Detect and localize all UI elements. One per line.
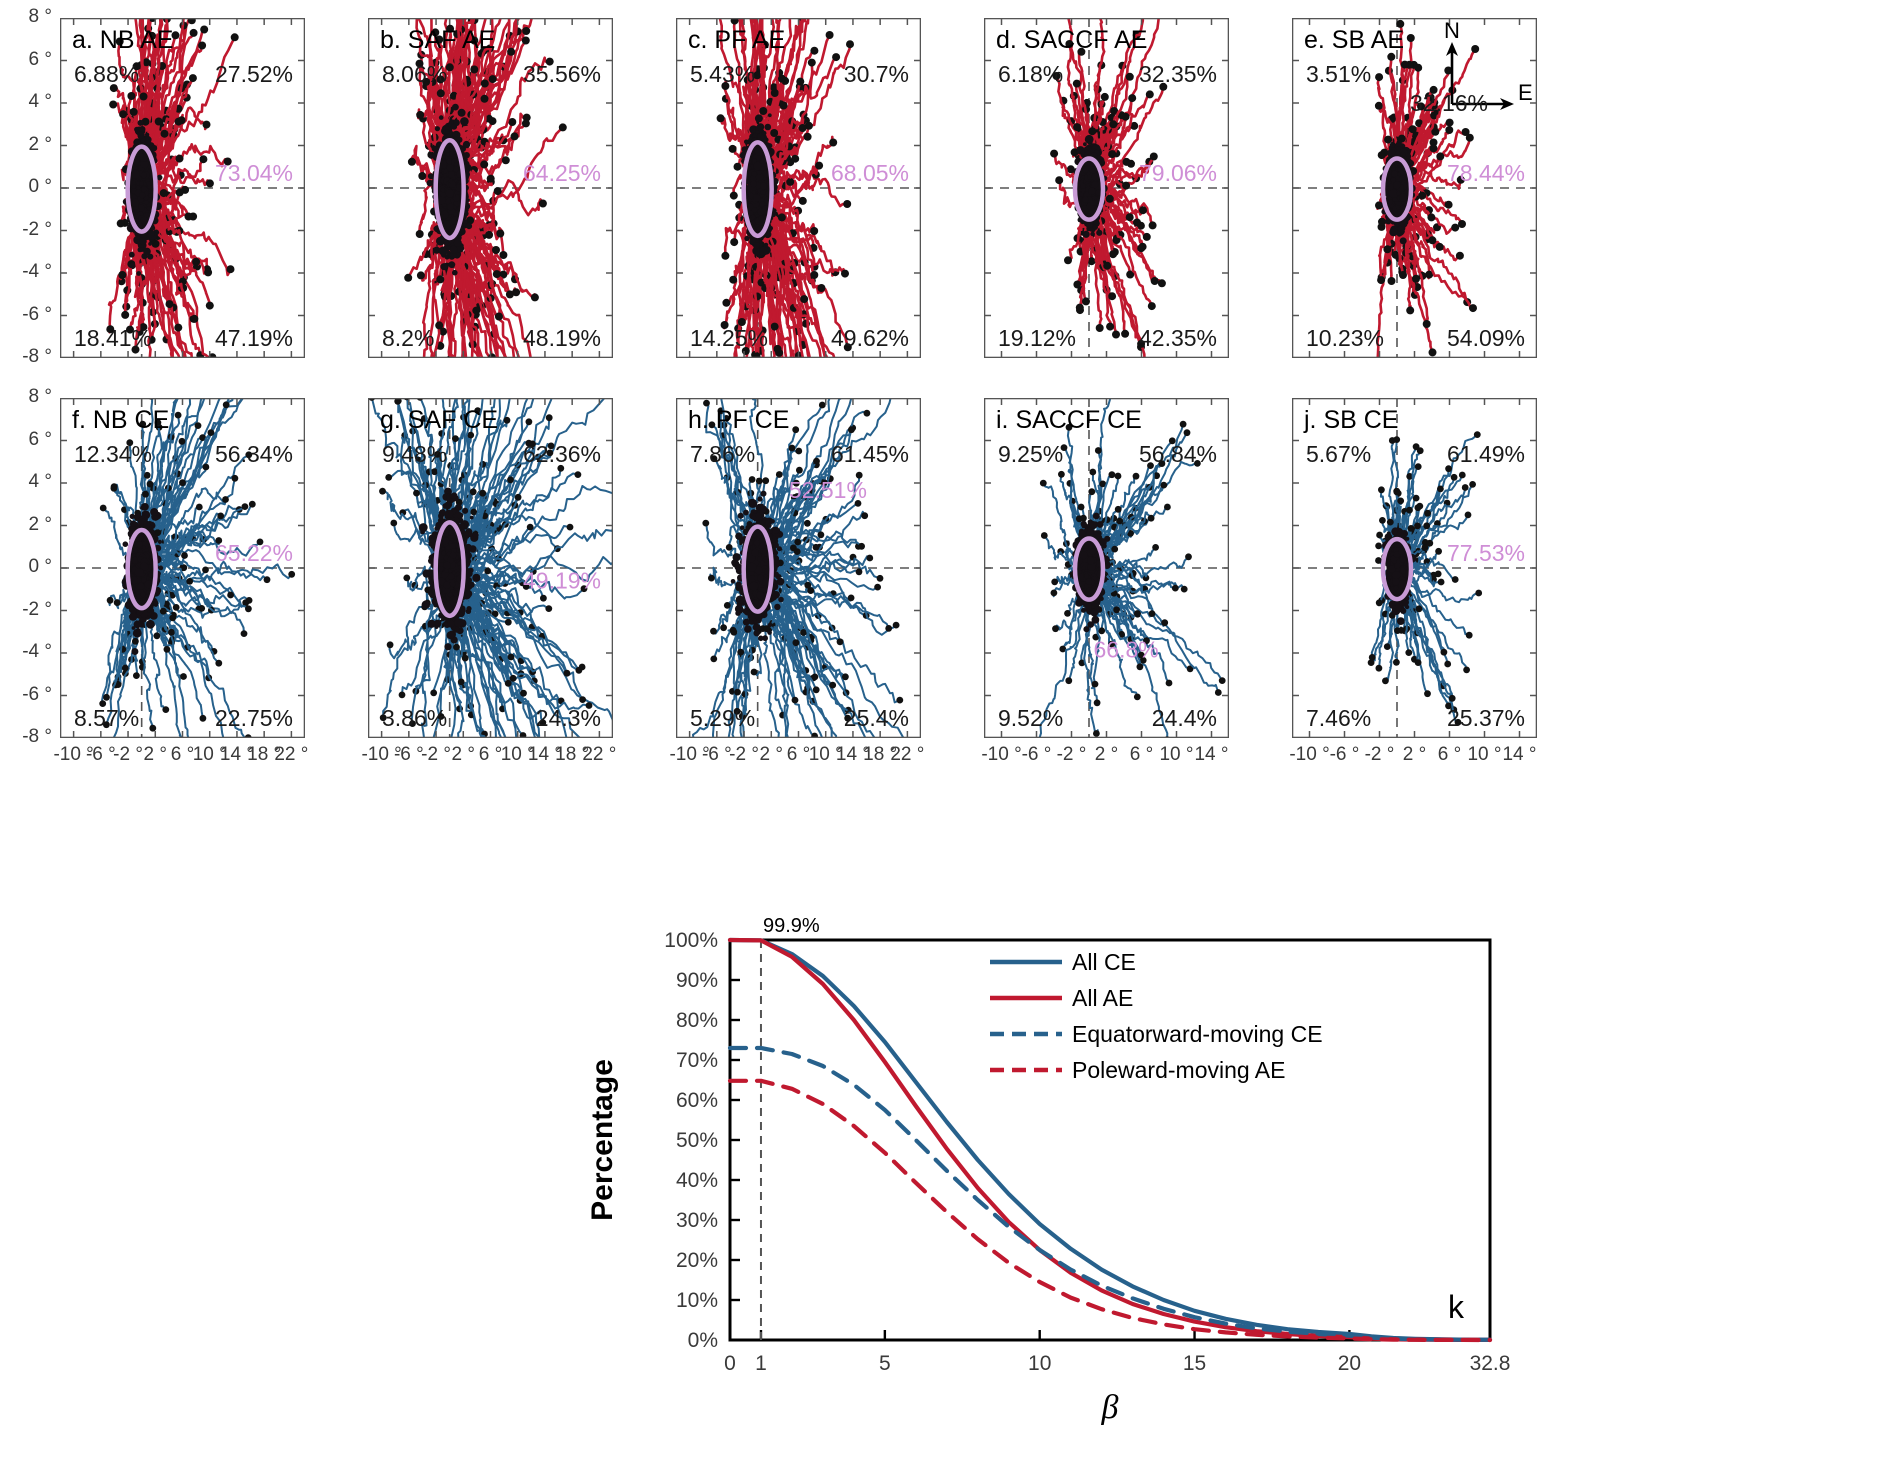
pct-top-right: 62.36% [523, 441, 601, 467]
y-tick-label: -6 ° [4, 304, 52, 326]
panel-title: f. NB CE [72, 406, 169, 434]
pct-top-right: 32.35% [1139, 61, 1217, 87]
y-tick-label: -8 ° [4, 346, 52, 368]
pct-bottom-left: 7.46% [1306, 705, 1371, 731]
pct-top-right: 27.52% [215, 61, 293, 87]
figure-root: 8 °6 °4 °2 °0 °-2 °-4 °-6 °-8 °a. NB AE6… [0, 0, 1892, 1479]
panel-title: j. SB CE [1303, 406, 1398, 434]
pct-ellipse: 66.8% [1093, 636, 1158, 662]
pct-ellipse: 52.51% [789, 477, 867, 503]
panel-plot-b: b. SAF AE8.06%35.56%8.2%48.19%64.25% [368, 18, 613, 358]
pct-ellipse: 73.04% [215, 160, 293, 186]
panel-title: a. NB AE [72, 26, 173, 54]
pct-bottom-right: 54.09% [1447, 325, 1525, 351]
k-y-tick-label: 100% [664, 929, 718, 952]
legend-label-0: All CE [1072, 949, 1136, 975]
pct-bottom-right: 25.37% [1447, 705, 1525, 731]
y-tick-label: 2 ° [4, 514, 52, 536]
k-x-tick-label: 5 [879, 1352, 891, 1375]
panel-plot-c: c. PF AE5.43%30.7%14.25%49.62%68.05% [676, 18, 921, 358]
k-x-axis-title: β [1101, 1389, 1119, 1426]
k-y-tick-label: 90% [676, 969, 718, 992]
pct-bottom-left: 3.86% [382, 705, 447, 731]
legend-label-2: Equatorward-moving CE [1072, 1021, 1323, 1047]
x-tick-label: 22 ° [573, 744, 625, 766]
y-tick-label: 4 ° [4, 471, 52, 493]
y-tick-label: -4 ° [4, 641, 52, 663]
panel-title: g. SAF CE [380, 406, 498, 434]
panel-title: e. SB AE [1304, 26, 1404, 54]
k-x-tick-label: 32.8 [1470, 1352, 1511, 1375]
y-tick-label: 2 ° [4, 134, 52, 156]
panel-j: j. SB CE5.67%61.49%7.46%25.37%77.53% [1292, 398, 1537, 738]
x-tick-label: 22 ° [265, 744, 317, 766]
k-y-tick-label: 40% [676, 1169, 718, 1192]
k-y-tick-label: 0% [688, 1329, 718, 1352]
panel-plot-h: h. PF CE7.86%61.45%5.29%25.4%52.51% [676, 398, 921, 738]
panel-plot-i: i. SACCF CE9.25%56.84%9.52%24.4%66.8% [984, 398, 1229, 738]
series-line-3 [730, 1081, 1490, 1340]
pct-ellipse: 65.22% [215, 540, 293, 566]
x-tick-label: 14 ° [1186, 744, 1238, 766]
pct-bottom-right: 42.35% [1139, 325, 1217, 351]
panel-title: c. PF AE [688, 26, 785, 54]
pct-bottom-right: 49.62% [831, 325, 909, 351]
panel-i: i. SACCF CE9.25%56.84%9.52%24.4%66.8% [984, 398, 1229, 738]
k-x-tick-label: 1 [755, 1352, 767, 1375]
pct-top-right: 61.49% [1447, 441, 1525, 467]
pct-bottom-left: 8.57% [74, 705, 139, 731]
panel-g: g. SAF CE9.48%62.36%3.86%24.3%49.19% [368, 398, 613, 738]
panel-plot-g: g. SAF CE9.48%62.36%3.86%24.3%49.19% [368, 398, 613, 738]
x-tick-label: 14 ° [1494, 744, 1546, 766]
k-y-tick-label: 60% [676, 1089, 718, 1112]
pct-bottom-right: 48.19% [523, 325, 601, 351]
k-y-tick-label: 50% [676, 1129, 718, 1152]
k-y-tick-label: 80% [676, 1009, 718, 1032]
pct-bottom-right: 24.4% [1152, 705, 1217, 731]
k-x-tick-label: 10 [1028, 1352, 1051, 1375]
k-x-tick-label: 0 [724, 1352, 736, 1375]
k-y-tick-label: 20% [676, 1249, 718, 1272]
pct-top-left: 6.18% [998, 61, 1063, 87]
pct-ellipse: 77.53% [1447, 540, 1525, 566]
pct-bottom-left: 9.52% [998, 705, 1063, 731]
pct-top-left: 3.51% [1306, 61, 1371, 87]
pct-top-right: 30.7% [844, 61, 909, 87]
y-tick-label: 8 ° [4, 386, 52, 408]
cumulative-percentage-chart: 0%10%20%30%40%50%60%70%80%90%100%0151015… [560, 900, 1560, 1470]
panel-b: b. SAF AE8.06%35.56%8.2%48.19%64.25% [368, 18, 613, 358]
panel-plot-a: a. NB AE6.88%27.52%18.41%47.19%73.04% [60, 18, 305, 358]
pct-top-left: 9.25% [998, 441, 1063, 467]
pct-bottom-right: 22.75% [215, 705, 293, 731]
y-tick-label: -2 ° [4, 219, 52, 241]
panel-d: d. SACCF AE6.18%32.35%19.12%42.35%79.06% [984, 18, 1229, 358]
panel-plot-j: j. SB CE5.67%61.49%7.46%25.37%77.53% [1292, 398, 1537, 738]
pct-bottom-left: 5.29% [690, 705, 755, 731]
pct-top-right: 61.45% [831, 441, 909, 467]
pct-ellipse: 68.05% [831, 160, 909, 186]
pct-bottom-right: 24.3% [536, 705, 601, 731]
legend-label-1: All AE [1072, 985, 1133, 1011]
y-tick-label: -4 ° [4, 261, 52, 283]
pct-top-left: 5.67% [1306, 441, 1371, 467]
panel-f: f. NB CE12.34%56.34%8.57%22.75%65.22% [60, 398, 305, 738]
pct-top-left: 8.06% [382, 61, 447, 87]
pct-ellipse: 78.44% [1447, 160, 1525, 186]
panel-plot-d: d. SACCF AE6.18%32.35%19.12%42.35%79.06% [984, 18, 1229, 358]
k-y-tick-label: 70% [676, 1049, 718, 1072]
y-tick-label: 6 ° [4, 49, 52, 71]
y-tick-label: 0 ° [4, 176, 52, 198]
pct-top-left: 12.34% [74, 441, 152, 467]
panel-plot-f: f. NB CE12.34%56.34%8.57%22.75%65.22% [60, 398, 305, 738]
pct-bottom-left: 19.12% [998, 325, 1076, 351]
pct-bottom-left: 8.2% [382, 325, 434, 351]
pct-top-left: 5.43% [690, 61, 755, 87]
y-tick-label: 4 ° [4, 91, 52, 113]
y-tick-label: 8 ° [4, 6, 52, 28]
k-y-tick-label: 10% [676, 1289, 718, 1312]
y-tick-label: -6 ° [4, 684, 52, 706]
panel-title: b. SAF AE [380, 26, 495, 54]
k-y-tick-label: 30% [676, 1209, 718, 1232]
k-y-axis-title: Percentage [586, 1059, 619, 1221]
pct-top-right: 56.34% [215, 441, 293, 467]
y-tick-label: -8 ° [4, 726, 52, 748]
k-x-tick-label: 20 [1338, 1352, 1361, 1375]
panel-a: a. NB AE6.88%27.52%18.41%47.19%73.04% [60, 18, 305, 358]
pct-top-left: 6.88% [74, 61, 139, 87]
pct-bottom-right: 25.4% [844, 705, 909, 731]
compass-pct: 32.16% [1410, 90, 1488, 117]
compass-east-label: E [1518, 80, 1533, 105]
annotation-999: 99.9% [763, 915, 820, 937]
pct-ellipse: 49.19% [523, 568, 601, 594]
panel-title: d. SACCF AE [996, 26, 1147, 54]
panel-k: 0%10%20%30%40%50%60%70%80%90%100%0151015… [560, 900, 1560, 1470]
panel-c: c. PF AE5.43%30.7%14.25%49.62%68.05% [676, 18, 921, 358]
panel-h: h. PF CE7.86%61.45%5.29%25.4%52.51% [676, 398, 921, 738]
pct-bottom-right: 47.19% [215, 325, 293, 351]
y-tick-label: 0 ° [4, 556, 52, 578]
pct-ellipse: 79.06% [1139, 160, 1217, 186]
legend-label-3: Poleward-moving AE [1072, 1057, 1286, 1083]
pct-bottom-left: 18.41% [74, 325, 152, 351]
panel-letter-k: k [1448, 1289, 1465, 1325]
pct-bottom-left: 14.25% [690, 325, 768, 351]
compass-north-label: N [1444, 22, 1460, 43]
pct-bottom-left: 10.23% [1306, 325, 1384, 351]
panel-title: h. PF CE [688, 406, 789, 434]
y-tick-label: -2 ° [4, 599, 52, 621]
pct-ellipse: 64.25% [523, 160, 601, 186]
y-tick-label: 6 ° [4, 429, 52, 451]
pct-top-right: 56.84% [1139, 441, 1217, 467]
k-x-tick-label: 15 [1183, 1352, 1206, 1375]
panel-title: i. SACCF CE [996, 406, 1142, 434]
pct-top-left: 7.86% [690, 441, 755, 467]
pct-top-left: 9.48% [382, 441, 447, 467]
x-tick-label: 22 ° [881, 744, 933, 766]
pct-top-right: 35.56% [523, 61, 601, 87]
